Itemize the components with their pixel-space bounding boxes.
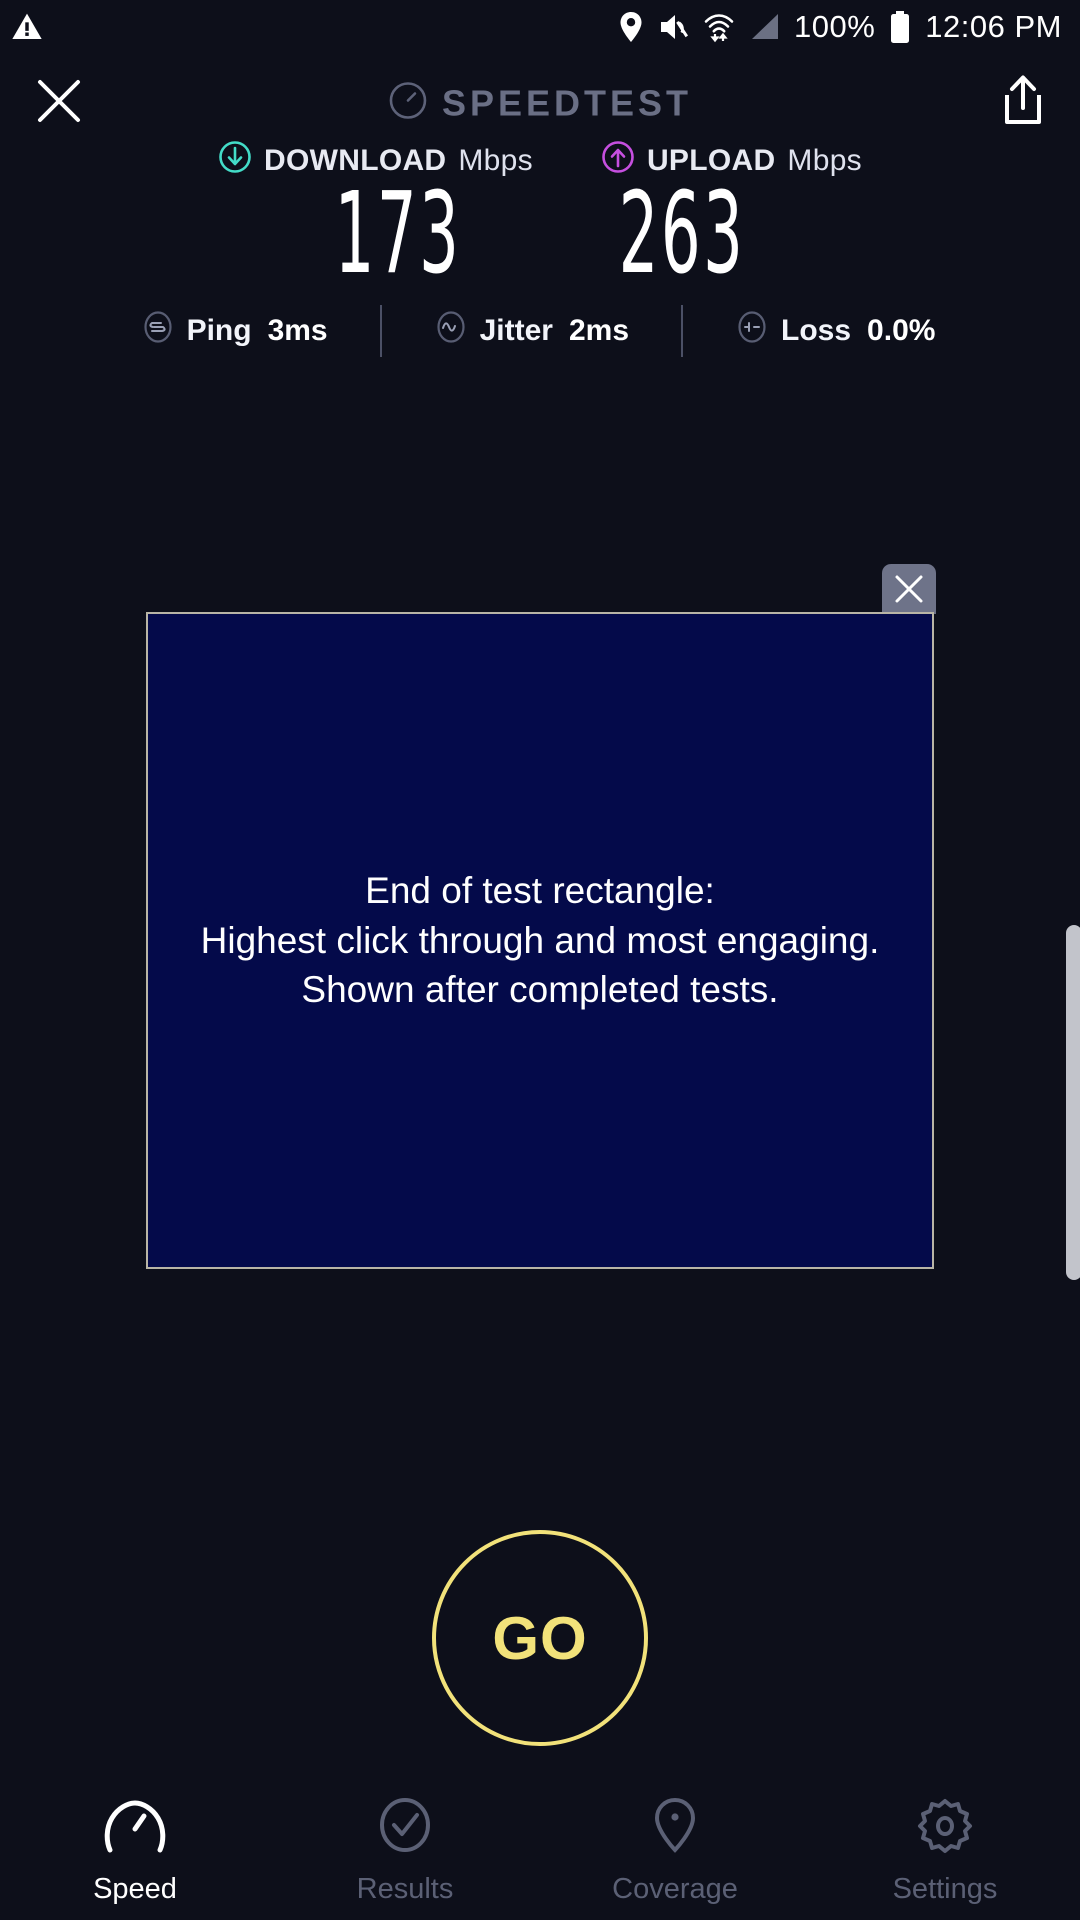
status-bar: 100% 12:06 PM (0, 0, 1080, 54)
ad-line: End of test rectangle: (201, 866, 880, 916)
brand-title-group: SPEEDTEST (388, 81, 692, 126)
loss-icon (735, 310, 769, 352)
network-metrics-row: Ping 3ms Jitter 2ms Loss 0.0 (0, 305, 1080, 357)
check-circle-icon (374, 1796, 436, 1859)
battery-percent-label: 100% (794, 9, 875, 45)
nav-item-coverage[interactable]: Coverage (540, 1790, 810, 1920)
metric-ping-value: 3ms (268, 314, 328, 348)
nav-item-results[interactable]: Results (270, 1790, 540, 1920)
advertisement-banner[interactable]: End of test rectangle: Highest click thr… (146, 612, 934, 1269)
location-pin-icon (618, 11, 644, 43)
close-icon[interactable] (34, 76, 84, 131)
gear-icon (914, 1796, 976, 1859)
metric-loss: Loss 0.0% (735, 310, 935, 352)
ad-line: Highest click through and most engaging. (201, 916, 880, 966)
speedometer-icon (388, 81, 428, 126)
metric-jitter-label: Jitter (480, 314, 553, 348)
metric-ping: Ping 3ms (141, 310, 328, 352)
ad-close-button[interactable] (882, 564, 936, 614)
clock-label: 12:06 PM (925, 9, 1062, 45)
wifi-icon (704, 12, 734, 43)
mute-icon (658, 12, 690, 42)
ad-text-block: End of test rectangle: Highest click thr… (201, 866, 880, 1015)
share-icon[interactable] (1000, 74, 1046, 133)
bottom-navigation-bar: Speed Results Coverage (0, 1790, 1080, 1920)
nav-item-speed-label: Speed (93, 1873, 177, 1906)
metric-loss-label: Loss (781, 314, 851, 348)
close-icon (892, 572, 926, 606)
go-button[interactable]: GO (432, 1530, 648, 1746)
nav-item-coverage-label: Coverage (612, 1873, 738, 1906)
download-value: 173 (268, 178, 528, 290)
download-unit: Mbps (458, 144, 533, 178)
speedtest-app-screen: 100% 12:06 PM SPEEDTEST (0, 0, 1080, 1920)
go-button-label: GO (492, 1604, 587, 1673)
nav-item-settings-label: Settings (893, 1873, 998, 1906)
arrow-down-circle-icon (218, 140, 252, 182)
metric-divider (681, 305, 683, 357)
page-scrollbar[interactable] (1066, 925, 1080, 1280)
metric-divider (380, 305, 382, 357)
page-title: SPEEDTEST (442, 82, 692, 124)
nav-item-speed[interactable]: Speed (0, 1790, 270, 1920)
cell-signal-icon (748, 12, 780, 42)
warning-triangle-icon (10, 11, 44, 43)
jitter-icon (434, 310, 468, 352)
upload-unit: Mbps (787, 144, 862, 178)
metric-loss-value: 0.0% (867, 314, 935, 348)
nav-item-settings[interactable]: Settings (810, 1790, 1080, 1920)
results-panel: DOWNLOAD Mbps UPLOAD Mbps 173 263 (0, 140, 1080, 290)
ping-icon (141, 310, 175, 352)
map-pin-icon (644, 1796, 706, 1859)
speedometer-icon (104, 1796, 166, 1859)
upload-value: 263 (552, 178, 812, 290)
metric-jitter-value: 2ms (569, 314, 629, 348)
metric-ping-label: Ping (187, 314, 252, 348)
app-header: SPEEDTEST (0, 62, 1080, 144)
nav-item-results-label: Results (357, 1873, 454, 1906)
metric-jitter: Jitter 2ms (434, 310, 629, 352)
ad-line: Shown after completed tests. (201, 965, 880, 1015)
battery-full-icon (889, 10, 911, 44)
